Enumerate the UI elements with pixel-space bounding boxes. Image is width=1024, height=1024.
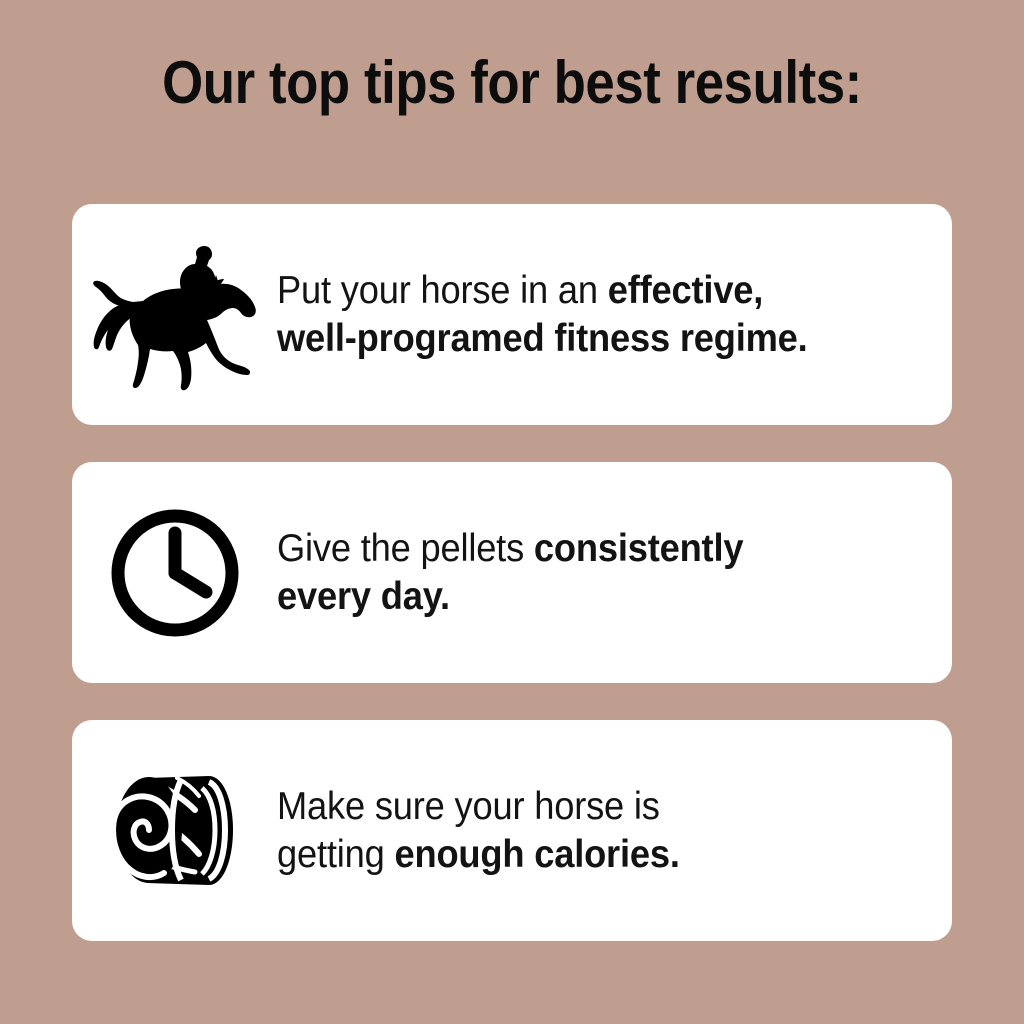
horse-and-rider-icon	[72, 204, 277, 425]
clock-icon	[72, 462, 277, 683]
page-title: Our top tips for best results:	[61, 48, 962, 118]
poster-root: Our top tips for best results:	[0, 0, 1024, 1024]
tip-card-2: Give the pellets consistently every day.	[72, 462, 952, 683]
tip-2-bold: consistently	[534, 527, 743, 570]
tip-3-regular: Make sure your horse is	[277, 785, 660, 828]
tip-card-3-line-2: getting enough calories.	[277, 831, 877, 879]
tip-3-bold: enough calories.	[394, 833, 679, 876]
hay-bale-icon	[72, 720, 277, 941]
tips-card-list: Put your horse in an effective, well-pro…	[72, 204, 952, 941]
tip-card-1-text: Put your horse in an effective, well-pro…	[277, 267, 952, 363]
tip-card-3-text: Make sure your horse is getting enough c…	[277, 783, 952, 879]
tip-1-regular: Put your horse in an	[277, 269, 608, 312]
tip-card-2-line-2: every day.	[277, 573, 877, 621]
tip-card-1: Put your horse in an effective, well-pro…	[72, 204, 952, 425]
tip-card-2-line-1: Give the pellets consistently	[277, 525, 877, 573]
tip-card-2-text: Give the pellets consistently every day.	[277, 525, 952, 621]
tip-card-1-line-1: Put your horse in an effective,	[277, 267, 877, 315]
tip-1-bold: effective,	[608, 269, 763, 312]
tip-card-3: Make sure your horse is getting enough c…	[72, 720, 952, 941]
tip-2-bold-2: every day.	[277, 575, 450, 618]
tip-2-regular: Give the pellets	[277, 527, 534, 570]
tip-1-bold-2: well-programed fitness regime.	[277, 317, 808, 360]
tip-3-regular-2: getting	[277, 833, 394, 876]
tip-card-1-line-2: well-programed fitness regime.	[277, 315, 877, 363]
tip-card-3-line-1: Make sure your horse is	[277, 783, 877, 831]
